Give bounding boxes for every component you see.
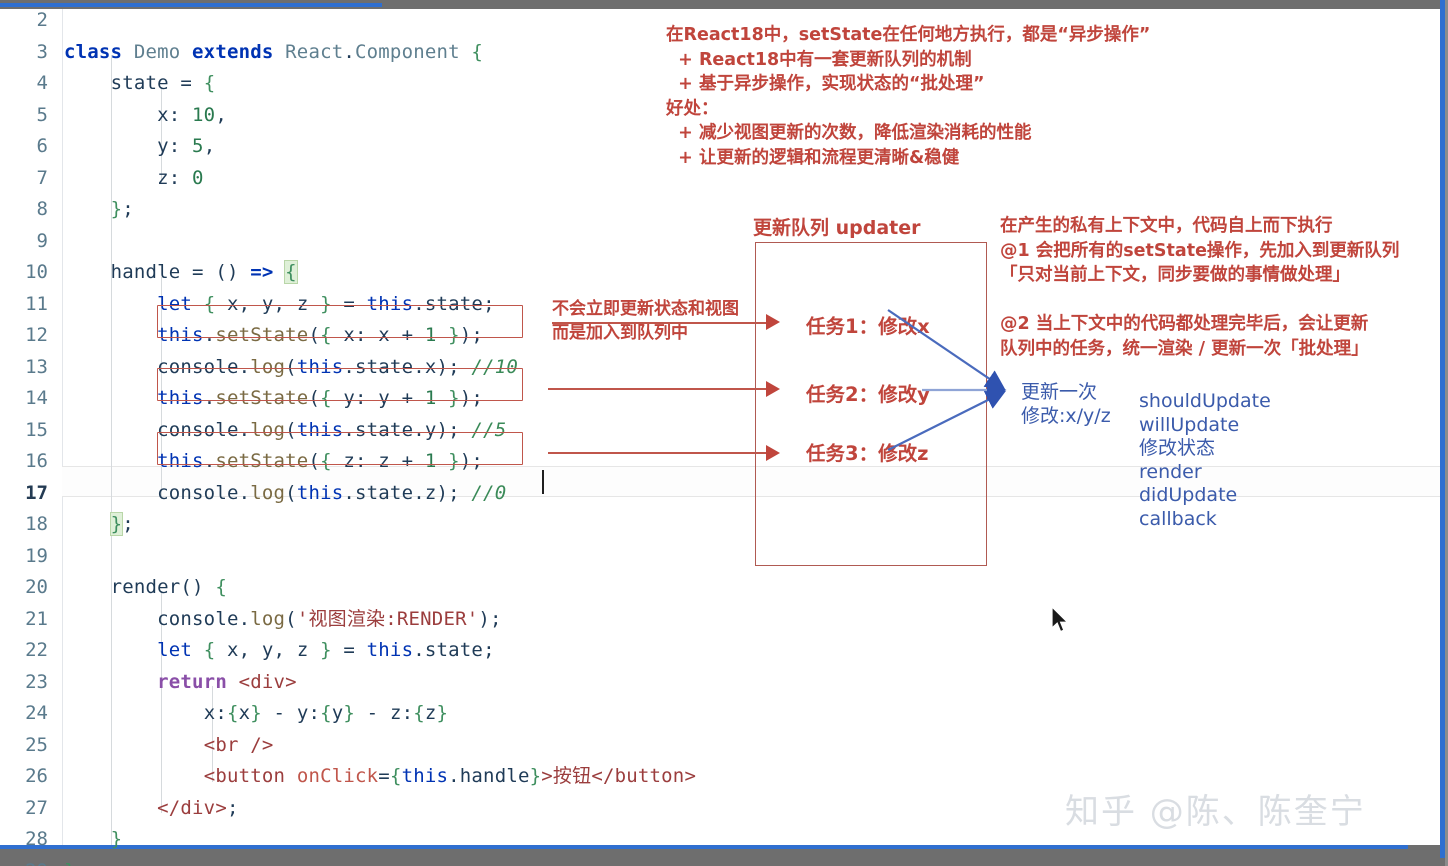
watermark: 知乎 @陈、陈奎宁 bbox=[1065, 784, 1366, 833]
blue-convergence-arrows bbox=[880, 300, 1040, 470]
line-number-6: 6 bbox=[0, 131, 48, 163]
line-number-24: 24 bbox=[0, 698, 48, 730]
code-line-4[interactable]: state = { bbox=[64, 68, 215, 100]
line-number-9: 9 bbox=[0, 226, 48, 258]
line-number-21: 21 bbox=[0, 604, 48, 636]
line-number-27: 27 bbox=[0, 793, 48, 825]
annotation-update-once: 更新一次 修改:x/y/z bbox=[1021, 381, 1141, 428]
code-line-20[interactable]: render() { bbox=[64, 572, 227, 604]
gutter-separator bbox=[62, 9, 63, 845]
horizontal-scrollbar-bottom[interactable] bbox=[0, 845, 1408, 849]
code-line-15[interactable]: console.log(this.state.y); //5 bbox=[64, 415, 506, 447]
code-line-27[interactable]: </div>; bbox=[64, 793, 239, 825]
code-line-10[interactable]: handle = () => { bbox=[64, 257, 297, 289]
code-line-23[interactable]: return <div> bbox=[64, 667, 297, 699]
code-line-14[interactable]: this.setState({ y: y + 1 }); bbox=[64, 383, 483, 415]
line-number-17: 17 bbox=[0, 478, 48, 510]
line-number-5: 5 bbox=[0, 100, 48, 132]
code-line-26[interactable]: <button onClick={this.handle}>按钮</button… bbox=[64, 761, 696, 793]
mouse-cursor-icon bbox=[1050, 606, 1072, 636]
line-number-10: 10 bbox=[0, 257, 48, 289]
arrow-line-task3 bbox=[548, 452, 770, 454]
lifecycle-list: shouldUpdate willUpdate 修改状态 render didU… bbox=[1139, 390, 1319, 531]
code-line-11[interactable]: let { x, y, z } = this.state; bbox=[64, 289, 495, 321]
line-number-4: 4 bbox=[0, 68, 48, 100]
code-line-25[interactable]: <br /> bbox=[64, 730, 274, 762]
code-line-7[interactable]: z: 0 bbox=[64, 163, 204, 195]
code-line-24[interactable]: x:{x} - y:{y} - z:{z} bbox=[64, 698, 448, 730]
line-number-26: 26 bbox=[0, 761, 48, 793]
queue-note-underline bbox=[552, 322, 768, 324]
line-number-11: 11 bbox=[0, 289, 48, 321]
annotation-top-note: 在React18中，setState在任何地方执行，都是“异步操作” + Rea… bbox=[666, 23, 1226, 170]
code-line-17[interactable]: console.log(this.state.z); //0 bbox=[64, 478, 506, 510]
line-number-18: 18 bbox=[0, 509, 48, 541]
line-number-25: 25 bbox=[0, 730, 48, 762]
code-line-12[interactable]: this.setState({ x: x + 1 }); bbox=[64, 320, 483, 352]
line-number-23: 23 bbox=[0, 667, 48, 699]
code-line-13[interactable]: console.log(this.state.x); //10 bbox=[64, 352, 518, 384]
line-number-12: 12 bbox=[0, 320, 48, 352]
code-line-21[interactable]: console.log('视图渲染:RENDER'); bbox=[64, 604, 502, 636]
text-caret bbox=[542, 470, 544, 494]
line-number-28: 28 bbox=[0, 824, 48, 856]
line-number-8: 8 bbox=[0, 194, 48, 226]
annotation-right-note: 在产生的私有上下文中，代码自上而下执行 @1 会把所有的setState操作，先… bbox=[1000, 214, 1448, 361]
line-number-7: 7 bbox=[0, 163, 48, 195]
line-number-3: 3 bbox=[0, 37, 48, 69]
code-line-6[interactable]: y: 5, bbox=[64, 131, 215, 163]
line-number-15: 15 bbox=[0, 415, 48, 447]
horizontal-scrollbar-top[interactable] bbox=[0, 3, 382, 7]
code-line-29[interactable]: } bbox=[64, 856, 76, 866]
line-number-16: 16 bbox=[0, 446, 48, 478]
line-number-13: 13 bbox=[0, 352, 48, 384]
code-line-5[interactable]: x: 10, bbox=[64, 100, 227, 132]
line-number-20: 20 bbox=[0, 572, 48, 604]
line-number-22: 22 bbox=[0, 635, 48, 667]
line-number-14: 14 bbox=[0, 383, 48, 415]
code-line-8[interactable]: }; bbox=[64, 194, 134, 226]
code-line-18[interactable]: }; bbox=[64, 509, 134, 541]
line-number-19: 19 bbox=[0, 541, 48, 573]
line-number-29: 29 bbox=[0, 856, 48, 866]
code-line-28[interactable]: } bbox=[64, 824, 122, 856]
code-line-16[interactable]: this.setState({ z: z + 1 }); bbox=[64, 446, 483, 478]
line-number-2: 2 bbox=[0, 5, 48, 37]
code-line-3[interactable]: class Demo extends React.Component { bbox=[64, 37, 483, 69]
updater-box-title: 更新队列 updater bbox=[753, 213, 921, 240]
screenshot-root: 2345678910111213141516171819202122232425… bbox=[0, 0, 1448, 866]
code-line-22[interactable]: let { x, y, z } = this.state; bbox=[64, 635, 495, 667]
arrow-line-task2 bbox=[548, 388, 770, 390]
